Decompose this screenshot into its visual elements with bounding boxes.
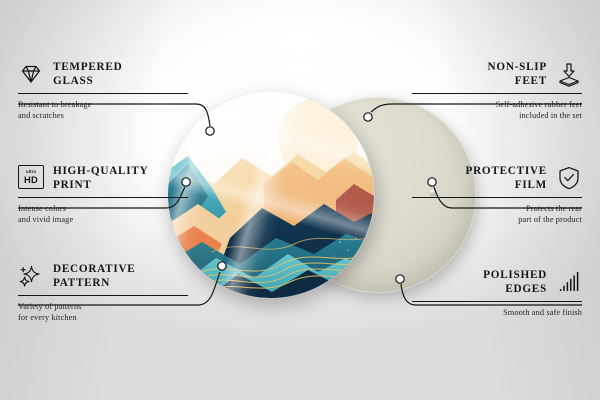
ultra-hd-icon-main: HD: [24, 175, 38, 184]
feature-header: NON-SLIP FEET: [412, 60, 582, 89]
feature-high-quality-print: ultra HD HIGH-QUALITY PRINT Intense colo…: [18, 164, 188, 226]
feature-title: HIGH-QUALITY PRINT: [53, 164, 148, 193]
feature-header: ultra HD HIGH-QUALITY PRINT: [18, 164, 188, 193]
feature-header: TEMPERED GLASS: [18, 60, 188, 89]
divider: [412, 93, 582, 94]
divider: [412, 197, 582, 198]
feature-description: Intense colors and vivid image: [18, 203, 188, 227]
glass-cutting-board: [168, 92, 374, 298]
feature-description: Variety of patterns for every kitchen: [18, 301, 188, 325]
sparkles-icon: [18, 263, 44, 289]
divider: [412, 301, 582, 302]
feature-protective-film: PROTECTIVE FILM Protects the rear part o…: [412, 164, 582, 226]
polished-edge-icon: [556, 269, 582, 295]
shield-check-icon: [556, 165, 582, 191]
feature-header: POLISHED EDGES: [412, 268, 582, 297]
feature-polished-edges: POLISHED EDGES Smooth and safe finish: [412, 268, 582, 318]
press-down-pad-icon: [556, 61, 582, 87]
feature-title: DECORATIVE PATTERN: [53, 262, 136, 291]
feature-title: POLISHED EDGES: [483, 268, 547, 297]
feature-non-slip-feet: NON-SLIP FEET Self-adhesive rubber feet …: [412, 60, 582, 122]
feature-decorative-pattern: DECORATIVE PATTERN Variety of patterns f…: [18, 262, 188, 324]
feature-description: Self-adhesive rubber feet included in th…: [412, 99, 582, 123]
diamond-icon: [18, 61, 44, 87]
feature-title: NON-SLIP FEET: [488, 60, 547, 89]
feature-description: Protects the rear part of the product: [412, 203, 582, 227]
ultra-hd-icon: ultra HD: [18, 165, 44, 191]
infographic-canvas: TEMPERED GLASS Resistant to breakage and…: [0, 0, 600, 400]
feature-title: TEMPERED GLASS: [53, 60, 122, 89]
feature-title: PROTECTIVE FILM: [466, 164, 547, 193]
divider: [18, 93, 188, 94]
feature-description: Smooth and safe finish: [412, 307, 582, 319]
divider: [18, 197, 188, 198]
divider: [18, 295, 188, 296]
feature-header: PROTECTIVE FILM: [412, 164, 582, 193]
feature-header: DECORATIVE PATTERN: [18, 262, 188, 291]
feature-tempered-glass: TEMPERED GLASS Resistant to breakage and…: [18, 60, 188, 122]
feature-description: Resistant to breakage and scratches: [18, 99, 188, 123]
